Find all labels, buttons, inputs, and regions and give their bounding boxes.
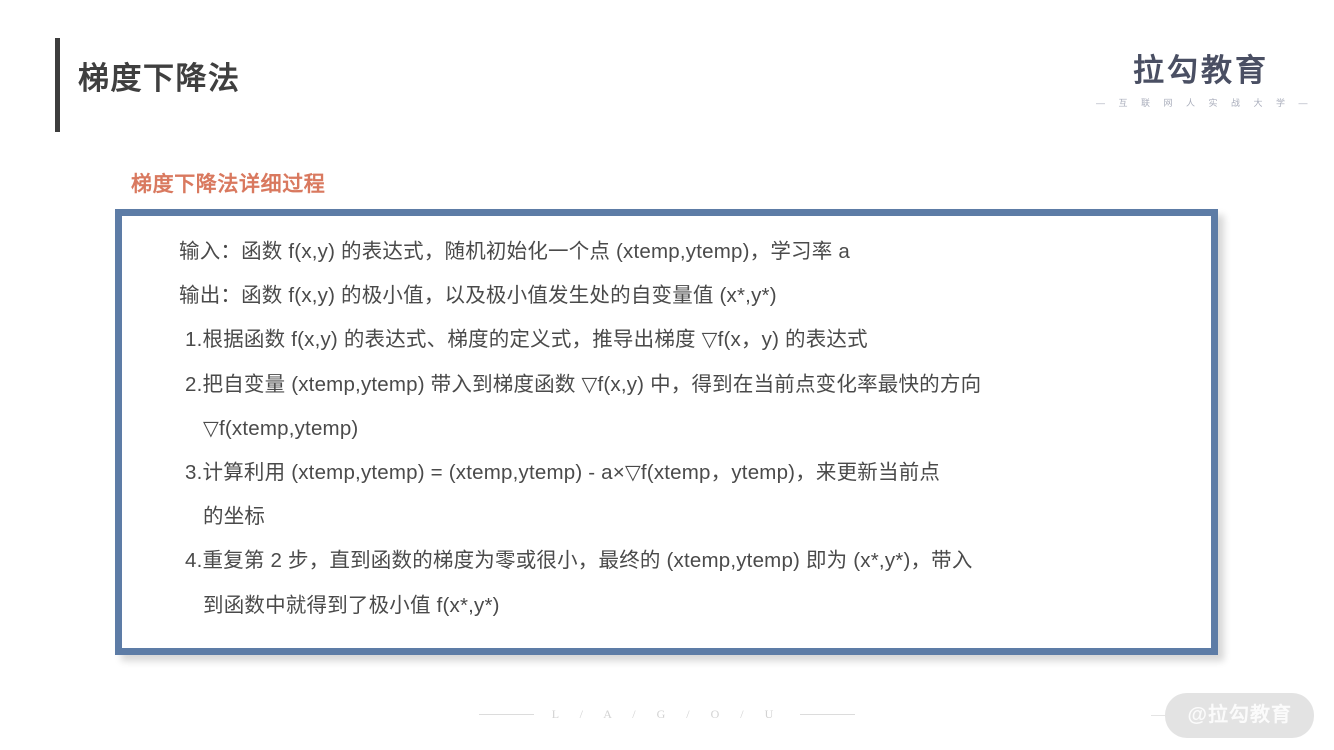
page-title: 梯度下降法: [78, 57, 241, 101]
algorithm-step-line: 输入：函数 f(x,y) 的表达式，随机初始化一个点 (xtemp,ytemp)…: [172, 230, 1191, 274]
brand-subtitle: — 互 联 网 人 实 战 大 学 —: [1096, 97, 1306, 109]
watermark: @拉勾教育: [1151, 693, 1314, 738]
watermark-label: @拉勾教育: [1165, 693, 1314, 738]
algorithm-step-line: 的坐标: [172, 495, 1191, 539]
footer-rule-right: [800, 714, 855, 715]
algorithm-step-line: 2.把自变量 (xtemp,ytemp) 带入到梯度函数 ▽f(x,y) 中，得…: [172, 363, 1191, 407]
algorithm-step-line: 到函数中就得到了极小值 f(x*,y*): [172, 584, 1191, 628]
slide-footer: L / A / G / O / U: [0, 707, 1334, 722]
algorithm-steps-list: 输入：函数 f(x,y) 的表达式，随机初始化一个点 (xtemp,ytemp)…: [122, 216, 1211, 628]
algorithm-content-box: 输入：函数 f(x,y) 的表达式，随机初始化一个点 (xtemp,ytemp)…: [115, 209, 1218, 655]
title-accent-bar: [55, 38, 60, 132]
footer-rule-left: [479, 714, 534, 715]
slide-header: 梯度下降法 拉勾教育 — 互 联 网 人 实 战 大 学 —: [0, 0, 1334, 150]
footer-brand-text: L / A / G / O / U: [552, 707, 783, 722]
algorithm-step-line: 1.根据函数 f(x,y) 的表达式、梯度的定义式，推导出梯度 ▽f(x，y) …: [172, 318, 1191, 362]
algorithm-step-line: 3.计算利用 (xtemp,ytemp) = (xtemp,ytemp) - a…: [172, 451, 1191, 495]
algorithm-step-line: 输出：函数 f(x,y) 的极小值，以及极小值发生处的自变量值 (x*,y*): [172, 274, 1191, 318]
section-heading: 梯度下降法详细过程: [131, 170, 325, 200]
algorithm-step-line: 4.重复第 2 步，直到函数的梯度为零或很小，最终的 (xtemp,ytemp)…: [172, 539, 1191, 583]
brand-name: 拉勾教育: [1096, 52, 1306, 90]
algorithm-step-line: ▽f(xtemp,ytemp): [172, 407, 1191, 451]
brand-logo: 拉勾教育 — 互 联 网 人 实 战 大 学 —: [1096, 52, 1306, 109]
